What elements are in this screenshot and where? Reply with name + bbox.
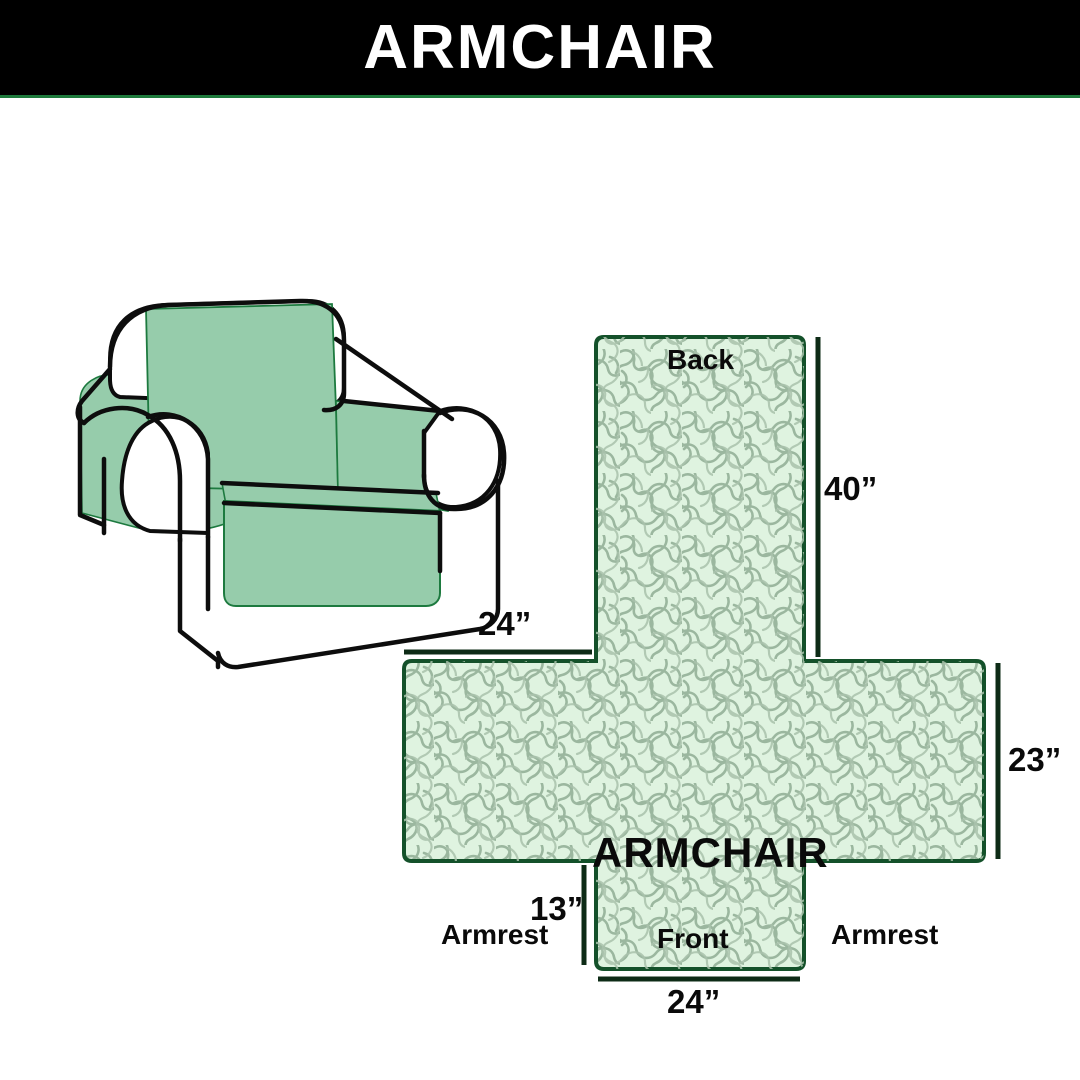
panel-label-front: Front <box>657 923 729 955</box>
dimension-label-front-width: 24” <box>667 983 720 1021</box>
header-bar: ARMCHAIR <box>0 0 1080 98</box>
diagram-center-label: ARMCHAIR <box>592 829 829 877</box>
dimension-label-front-drop: 13” <box>530 890 583 928</box>
panel-label-armrest-right: Armrest <box>831 919 938 951</box>
armchair-illustration <box>78 301 504 667</box>
dimension-label-armrest-width: 24” <box>478 605 531 643</box>
dimension-label-seat-depth: 23” <box>1008 741 1061 779</box>
panel-label-back: Back <box>667 344 734 376</box>
diagram-canvas: Back ARMCHAIR Armrest Armrest Front 40” … <box>0 101 1080 1080</box>
page-title: ARMCHAIR <box>363 17 717 79</box>
dimension-label-back-height: 40” <box>824 470 877 508</box>
